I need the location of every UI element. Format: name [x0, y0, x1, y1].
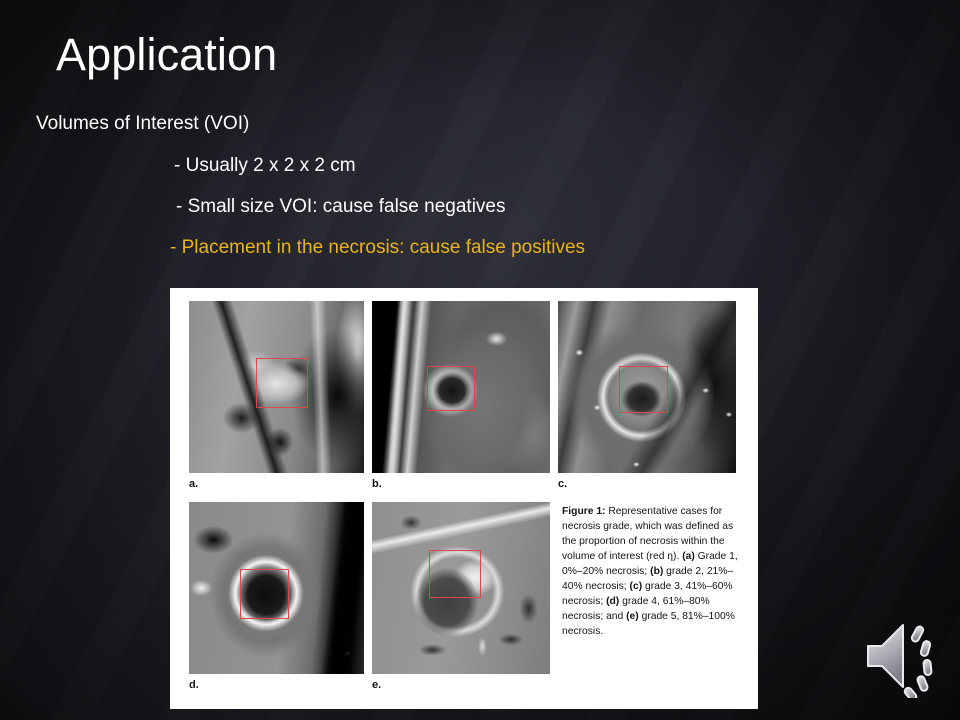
caption-lead: Figure 1: [562, 506, 605, 517]
panel-label-e: e. [372, 679, 381, 691]
caption-tag-b: (b) [650, 566, 663, 577]
voi-box-d [240, 569, 289, 619]
caption-tag-a: (a) [682, 551, 695, 562]
mri-panel-a [189, 301, 364, 473]
panel-label-c: c. [558, 478, 567, 490]
section-heading-voi: Volumes of Interest (VOI) [36, 113, 249, 135]
panel-label-d: d. [189, 679, 199, 691]
panel-label-b: b. [372, 478, 382, 490]
bullet-item-small-voi: - Small size VOI: cause false negatives [176, 196, 505, 218]
mri-panel-d [189, 502, 364, 674]
figure-image-panel: a. b. c. d. e. Figure 1: Representative … [170, 288, 758, 709]
caption-tag-d: (d) [606, 596, 619, 607]
bullet-item-usually-size: - Usually 2 x 2 x 2 cm [174, 155, 356, 177]
caption-tag-e: (e) [626, 611, 639, 622]
panel-label-a: a. [189, 478, 198, 490]
voi-box-a [256, 358, 309, 408]
bullet-item-necrosis-placement: - Placement in the necrosis: cause false… [170, 237, 585, 259]
slide-canvas: Application Volumes of Interest (VOI) - … [0, 0, 960, 720]
voi-box-e [429, 550, 481, 598]
caption-tag-c: (c) [630, 581, 643, 592]
mri-panel-b [372, 301, 550, 473]
mri-panel-c [558, 301, 736, 473]
speaker-icon[interactable] [862, 614, 950, 698]
figure-caption: Figure 1: Representative cases for necro… [562, 504, 744, 639]
mri-panel-e [372, 502, 550, 674]
page-title: Application [56, 28, 277, 83]
voi-box-b [427, 366, 475, 411]
voi-box-c [619, 366, 669, 412]
